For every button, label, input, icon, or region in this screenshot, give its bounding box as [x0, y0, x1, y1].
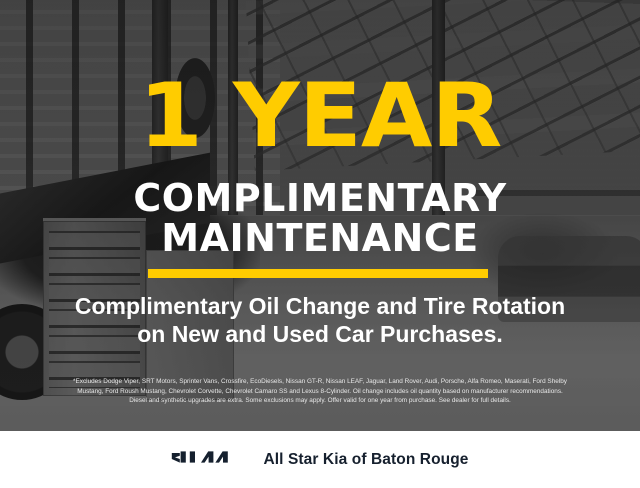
dealer-name: All Star Kia of Baton Rouge	[263, 451, 468, 469]
subheadline-line-1: Complimentary Oil Change and Tire Rotati…	[75, 293, 565, 319]
disclaimer-line-1: *Excludes Dodge Viper, SRT Motors, Sprin…	[14, 377, 626, 387]
subheadline: Complimentary Oil Change and Tire Rotati…	[20, 292, 620, 348]
footer-branding: All Star Kia of Baton Rouge	[171, 447, 468, 472]
hero-content: 1 YEAR COMPLIMENTARY MAINTENANCE Complim…	[0, 0, 640, 431]
kia-logo-icon	[171, 447, 243, 472]
headline-maintenance: MAINTENANCE	[0, 218, 640, 258]
footer-bar: All Star Kia of Baton Rouge	[0, 431, 640, 488]
headline-complimentary: COMPLIMENTARY	[0, 178, 640, 218]
promo-banner: 1 YEAR COMPLIMENTARY MAINTENANCE Complim…	[0, 0, 640, 488]
disclaimer-line-3: Diesel and synthetic upgrades are extra.…	[14, 396, 626, 406]
hero-section: 1 YEAR COMPLIMENTARY MAINTENANCE Complim…	[0, 0, 640, 431]
subheadline-line-2: on New and Used Car Purchases.	[20, 320, 620, 348]
disclaimer-text: *Excludes Dodge Viper, SRT Motors, Sprin…	[14, 377, 626, 406]
headline-year: 1 YEAR	[0, 72, 640, 160]
disclaimer-line-2: Mustang, Ford Roush Mustang, Chevrolet C…	[14, 387, 626, 397]
accent-divider	[148, 269, 488, 278]
